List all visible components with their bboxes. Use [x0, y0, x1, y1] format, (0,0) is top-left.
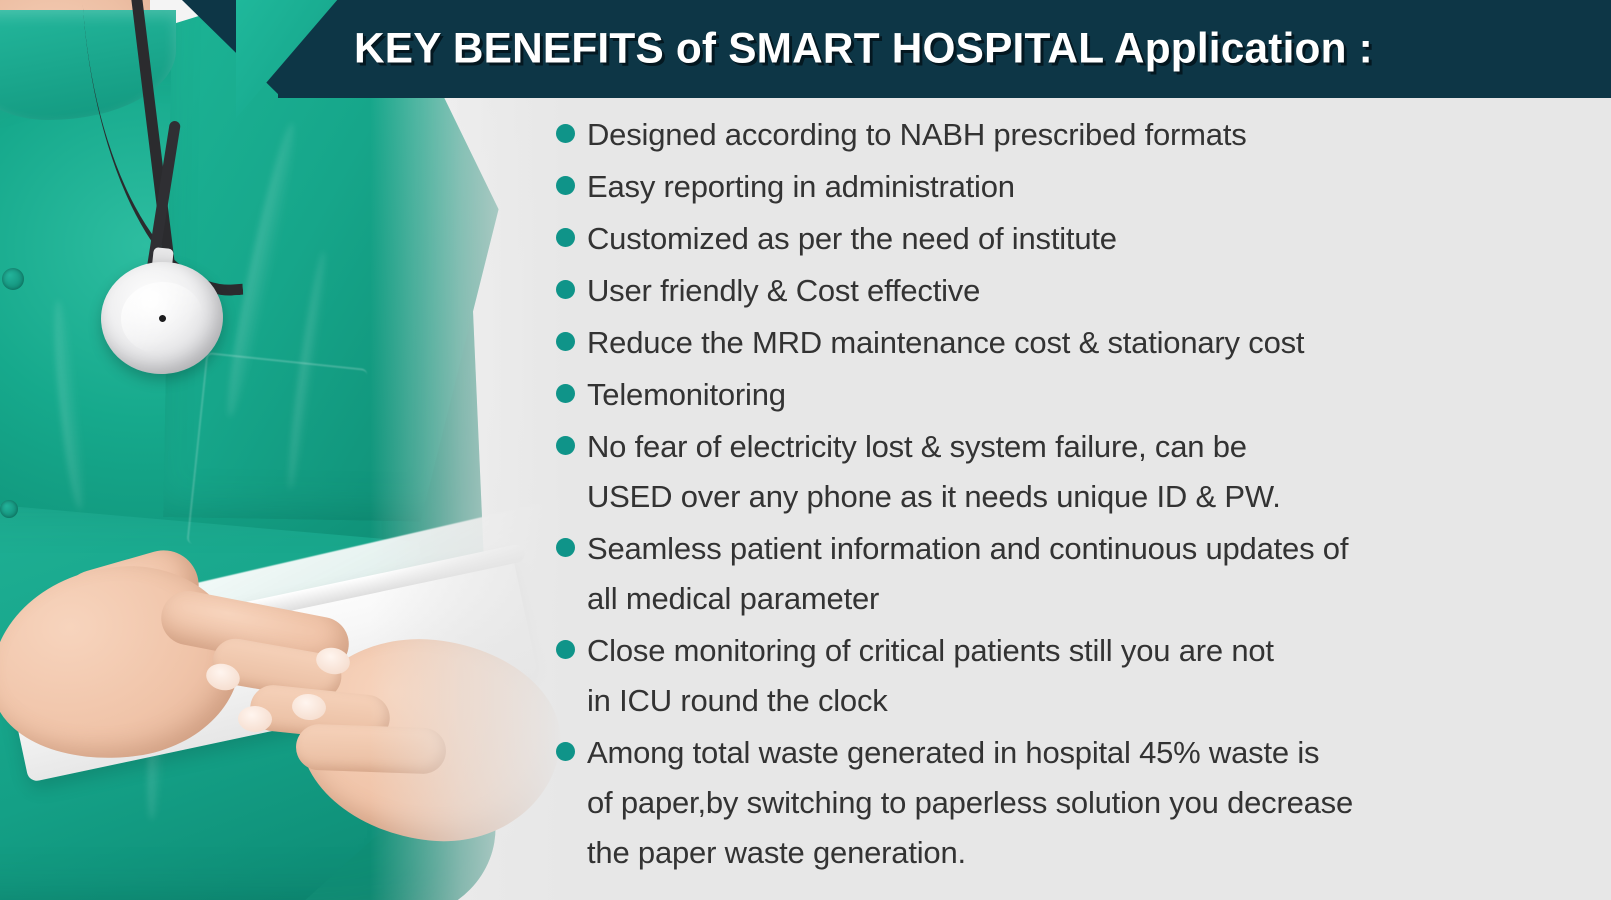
bullet-icon: [556, 124, 575, 143]
finger: [295, 723, 447, 774]
scrub-button: [0, 500, 18, 518]
bullet-icon: [556, 436, 575, 455]
hero-photo: [0, 0, 640, 900]
benefit-text: Designed according to NABH prescribed fo…: [587, 110, 1247, 160]
header-banner: KEY BENEFITS of SMART HOSPITAL Applicati…: [278, 0, 1611, 98]
benefits-list: Designed according to NABH prescribed fo…: [556, 110, 1596, 880]
benefit-text: No fear of electricity lost & system fai…: [587, 422, 1281, 522]
benefit-text: Easy reporting in administration: [587, 162, 1015, 212]
list-item: Among total waste generated in hospital …: [556, 728, 1596, 878]
benefit-text: Close monitoring of critical patients st…: [587, 626, 1274, 726]
bullet-icon: [556, 280, 575, 299]
benefit-text: Among total waste generated in hospital …: [587, 728, 1353, 878]
bullet-icon: [556, 640, 575, 659]
scrub-button: [2, 268, 24, 290]
list-item: User friendly & Cost effective: [556, 266, 1596, 316]
benefit-text: Reduce the MRD maintenance cost & statio…: [587, 318, 1304, 368]
list-item: Seamless patient information and continu…: [556, 524, 1596, 624]
bullet-icon: [556, 538, 575, 557]
list-item: Close monitoring of critical patients st…: [556, 626, 1596, 726]
list-item: No fear of electricity lost & system fai…: [556, 422, 1596, 522]
list-item: Reduce the MRD maintenance cost & statio…: [556, 318, 1596, 368]
list-item: Telemonitoring: [556, 370, 1596, 420]
benefit-text: User friendly & Cost effective: [587, 266, 980, 316]
bullet-icon: [556, 176, 575, 195]
bullet-icon: [556, 384, 575, 403]
slide-root: KEY BENEFITS of SMART HOSPITAL Applicati…: [0, 0, 1611, 900]
benefit-text: Customized as per the need of institute: [587, 214, 1117, 264]
list-item: Designed according to NABH prescribed fo…: [556, 110, 1596, 160]
list-item: Customized as per the need of institute: [556, 214, 1596, 264]
page-title: KEY BENEFITS of SMART HOSPITAL Applicati…: [354, 25, 1373, 74]
benefit-text: Seamless patient information and continu…: [587, 524, 1348, 624]
benefit-text: Telemonitoring: [587, 370, 786, 420]
list-item: Easy reporting in administration: [556, 162, 1596, 212]
bullet-icon: [556, 332, 575, 351]
chest-pocket: [186, 352, 367, 560]
bullet-icon: [556, 742, 575, 761]
bullet-icon: [556, 228, 575, 247]
